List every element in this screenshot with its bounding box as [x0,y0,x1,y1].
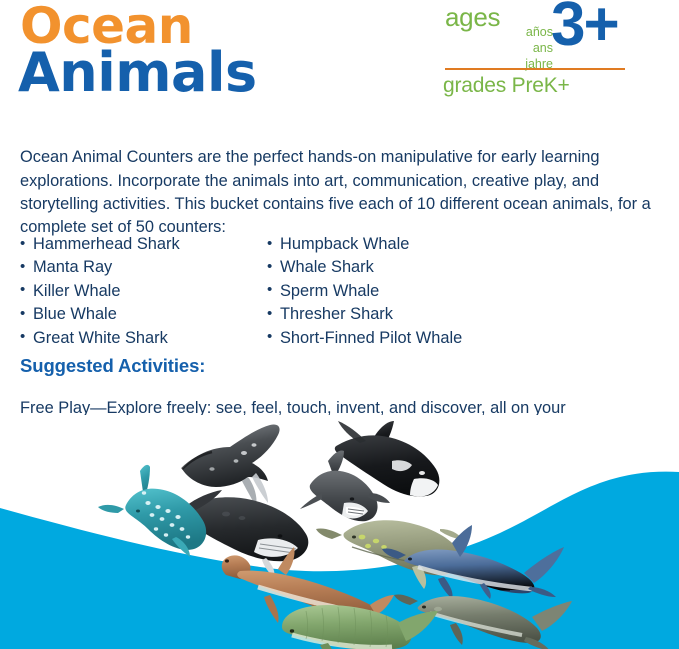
ages-label-german: jahre [441,56,553,72]
header: Ocean Animals ages años ans jahre 3+ gra… [0,0,679,120]
page-title: Ocean Animals [18,2,257,100]
activities-heading: Suggested Activities: [20,355,205,377]
animal-list-left-items: Hammerhead Shark Manta Ray Killer Whale … [20,233,180,350]
list-item: Whale Shark [267,256,462,279]
list-item: Manta Ray [20,256,180,279]
animal-figures [0,415,679,649]
ages-value: 3+ [551,0,618,56]
product-photo [0,415,679,649]
manta-ray-figure [182,424,280,507]
ages-label-spanish: años [441,24,553,40]
list-item: Short-Finned Pilot Whale [267,327,462,350]
sperm-whale-figure [282,605,438,649]
list-item: Humpback Whale [267,233,462,256]
animal-list-column-right: Humpback Whale Whale Shark Sperm Whale T… [267,233,462,350]
whale-shark-figure [98,465,206,557]
list-item: Hammerhead Shark [20,233,180,256]
animal-list-right-items: Humpback Whale Whale Shark Sperm Whale T… [267,233,462,350]
product-label-page: Ocean Animals ages años ans jahre 3+ gra… [0,0,679,649]
list-item: Sperm Whale [267,280,462,303]
ages-divider [445,68,625,70]
list-item: Blue Whale [20,303,180,326]
list-item: Thresher Shark [267,303,462,326]
ages-translations: años ans jahre [441,24,553,72]
grades-label: grades PreK+ [443,74,570,98]
title-line-animals: Animals [18,47,257,100]
ages-row: ages años ans jahre 3+ [441,4,631,70]
ages-badge: ages años ans jahre 3+ grades PreK+ [441,4,631,100]
animal-list-column-left: Hammerhead Shark Manta Ray Killer Whale … [20,233,180,350]
intro-paragraph: Ocean Animal Counters are the perfect ha… [20,146,656,239]
list-item: Killer Whale [20,280,180,303]
ages-label-french: ans [441,40,553,56]
list-item: Great White Shark [20,327,180,350]
